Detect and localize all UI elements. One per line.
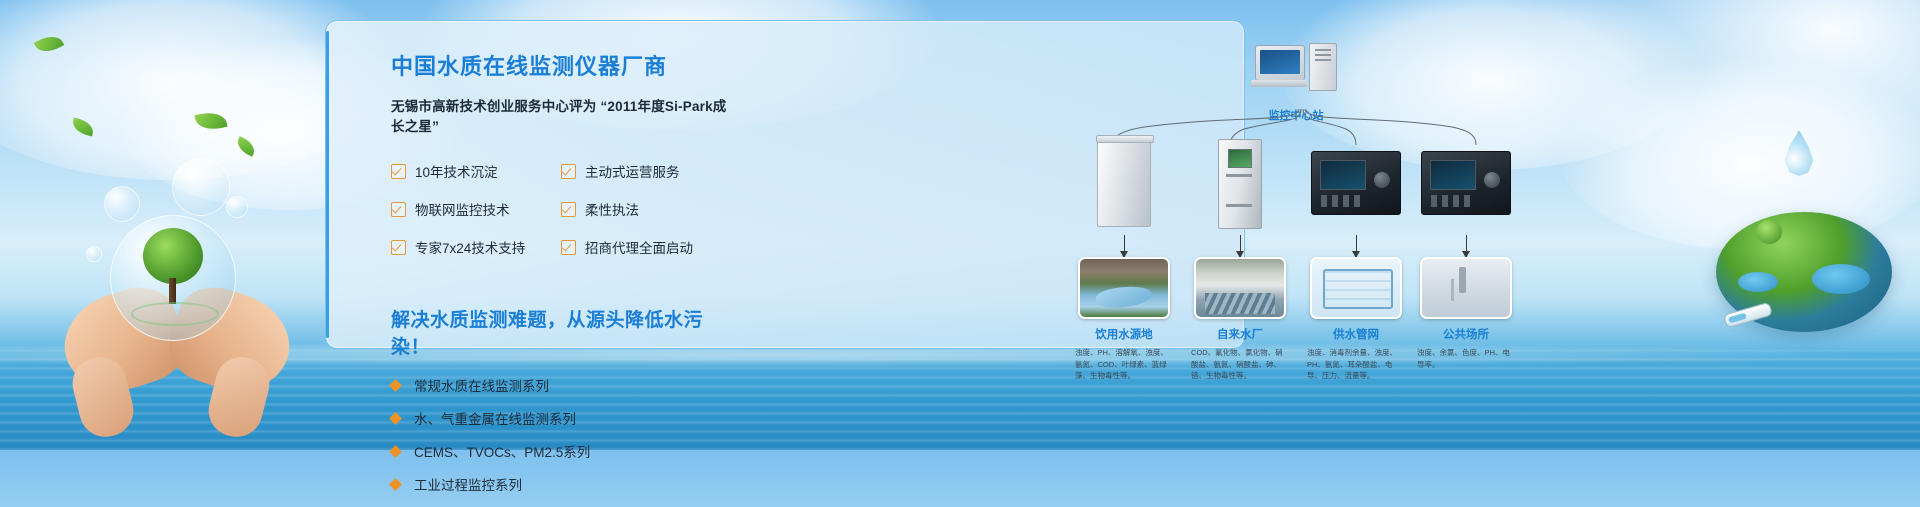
feature-checklist: 10年技术沉淀 主动式运营服务 物联网监控技术 柔性执法 专家7x24技术支持 …	[391, 161, 731, 275]
card-description: 浊度、余氯、色度、PH、电导率。	[1414, 347, 1518, 370]
cabinet-body	[1097, 139, 1151, 227]
diamond-bullet-icon	[389, 445, 402, 458]
thumbnail-public-place	[1420, 257, 1512, 319]
card-description: 浊度、消毒剂余量、浊度、PH、氨氮、耳朵酸盐、电导、压力、流量等。	[1304, 347, 1408, 382]
feature-item[interactable]: 专家7x24技术支持	[391, 237, 561, 257]
computer-icon	[1251, 43, 1341, 101]
leaf-icon-2	[71, 118, 96, 137]
checkbox-icon	[561, 164, 576, 179]
card-description: 浊度、PH、溶解氧、浊度、氨氮、COD、叶绿素、蓝绿藻、生物毒性等。	[1072, 347, 1176, 382]
application-card[interactable]: 公共场所 浊度、余氯、色度、PH、电导率。	[1414, 259, 1518, 370]
device-row	[1066, 139, 1536, 249]
device-panel-controller-dark[interactable]	[1306, 139, 1406, 215]
pc-tower-icon	[1309, 43, 1337, 91]
product-label: 工业过程监控系列	[414, 474, 522, 494]
feature-item[interactable]: 主动式运营服务	[561, 161, 731, 181]
down-arrow-icon	[1466, 235, 1467, 257]
diamond-bullet-icon	[389, 379, 402, 392]
product-label: CEMS、TVOCs、PM2.5系列	[414, 441, 590, 461]
card-title: 供水管网	[1304, 326, 1408, 342]
hands-holding-eco-globe	[62, 215, 297, 450]
card-title: 自来水厂	[1188, 326, 1292, 342]
checkbox-icon	[391, 164, 406, 179]
feature-label: 物联网监控技术	[415, 199, 510, 219]
card-description: COD、氟化物、氯化物、硝酸盐、氨氮、硝酸盐、砷、铬、生物毒性等。	[1188, 347, 1292, 382]
diamond-bullet-icon	[389, 412, 402, 425]
checkbox-icon	[561, 202, 576, 217]
leaf-icon-4	[234, 136, 258, 156]
tree-trunk-icon	[169, 278, 176, 304]
leaf-icon-1	[34, 31, 64, 57]
product-item[interactable]: 常规水质在线监测系列	[391, 375, 736, 395]
device-outdoor-cabinet[interactable]	[1074, 139, 1174, 227]
product-label: 水、气重金属在线监测系列	[414, 408, 576, 428]
eco-earth-globe	[1716, 212, 1892, 388]
water-droplet-icon	[1782, 130, 1816, 176]
bubble-1	[172, 158, 230, 216]
product-label: 常规水质在线监测系列	[414, 375, 549, 395]
page-title: 中国水质在线监测仪器厂商	[391, 49, 736, 81]
checkbox-icon	[391, 202, 406, 217]
cabinet-body	[1218, 139, 1262, 229]
feature-label: 专家7x24技术支持	[415, 237, 525, 257]
diamond-bullet-icon	[389, 478, 402, 491]
application-card[interactable]: 供水管网 浊度、消毒剂余量、浊度、PH、氨氮、耳朵酸盐、电导、压力、流量等。	[1304, 259, 1408, 382]
feature-item[interactable]: 柔性执法	[561, 199, 731, 219]
water-ripple	[131, 302, 219, 326]
checkbox-icon	[561, 240, 576, 255]
section-title: 解决水质监测难题，从源头降低水污染！	[391, 305, 736, 359]
tree-crown-icon	[143, 228, 203, 284]
down-arrow-icon	[1356, 235, 1357, 257]
device-indoor-cabinet[interactable]	[1190, 139, 1290, 229]
device-display	[1430, 160, 1476, 190]
feature-label: 柔性执法	[585, 199, 639, 219]
controller-body	[1311, 151, 1401, 215]
monitor-icon	[1255, 45, 1305, 81]
device-panel-line	[1226, 204, 1252, 207]
panel-left-column: 中国水质在线监测仪器厂商 无锡市高新技术创业服务中心评为 “2011年度Si-P…	[391, 49, 736, 507]
feature-item[interactable]: 物联网监控技术	[391, 199, 561, 219]
checkbox-icon	[391, 240, 406, 255]
feature-item[interactable]: 招商代理全面启动	[561, 237, 731, 257]
device-knob	[1484, 172, 1500, 188]
device-display	[1228, 149, 1252, 168]
card-title: 饮用水源地	[1072, 326, 1176, 342]
product-item[interactable]: CEMS、TVOCs、PM2.5系列	[391, 441, 736, 461]
water-globe	[110, 215, 236, 341]
down-arrow-icon	[1124, 235, 1125, 257]
panel-accent-bar	[326, 31, 329, 338]
cabinet-top	[1096, 135, 1154, 143]
feature-label: 主动式运营服务	[585, 161, 680, 181]
application-card[interactable]: 自来水厂 COD、氟化物、氯化物、硝酸盐、氨氮、硝酸盐、砷、铬、生物毒性等。	[1188, 259, 1292, 382]
controller-body	[1421, 151, 1511, 215]
product-list: 常规水质在线监测系列 水、气重金属在线监测系列 CEMS、TVOCs、PM2.5…	[391, 375, 736, 494]
application-card[interactable]: 饮用水源地 浊度、PH、溶解氧、浊度、氨氮、COD、叶绿素、蓝绿藻、生物毒性等。	[1072, 259, 1176, 382]
feature-label: 10年技术沉淀	[415, 161, 498, 181]
device-keypad	[1431, 195, 1473, 207]
device-panel-controller-blue[interactable]	[1416, 139, 1516, 215]
card-title: 公共场所	[1414, 326, 1518, 342]
device-display	[1320, 160, 1366, 190]
thumbnail-water-plant	[1194, 257, 1286, 319]
earth-tree-icon	[1756, 220, 1782, 244]
down-arrow-icon	[1240, 235, 1241, 257]
thumbnail-drinking-water-source	[1078, 257, 1170, 319]
earth-lake-2	[1738, 272, 1778, 292]
sun-glow	[1540, 0, 1920, 210]
thumbnail-water-supply-network	[1310, 257, 1402, 319]
device-panel-line	[1226, 174, 1252, 177]
system-topology-diagram: 监控中心站	[1066, 31, 1536, 361]
page-subtitle: 无锡市高新技术创业服务中心评为 “2011年度Si-Park成长之星”	[391, 95, 736, 135]
device-knob	[1374, 172, 1390, 188]
leaf-icon-3	[194, 109, 227, 133]
product-item[interactable]: 工业过程监控系列	[391, 474, 736, 494]
feature-item[interactable]: 10年技术沉淀	[391, 161, 561, 181]
product-item[interactable]: 水、气重金属在线监测系列	[391, 408, 736, 428]
device-keypad	[1321, 195, 1363, 207]
content-panel: 中国水质在线监测仪器厂商 无锡市高新技术创业服务中心评为 “2011年度Si-P…	[325, 20, 1245, 349]
monitor-stand	[1251, 80, 1307, 87]
earth-lake-1	[1812, 264, 1870, 294]
monitor-screen	[1260, 50, 1300, 74]
feature-label: 招商代理全面启动	[585, 237, 693, 257]
